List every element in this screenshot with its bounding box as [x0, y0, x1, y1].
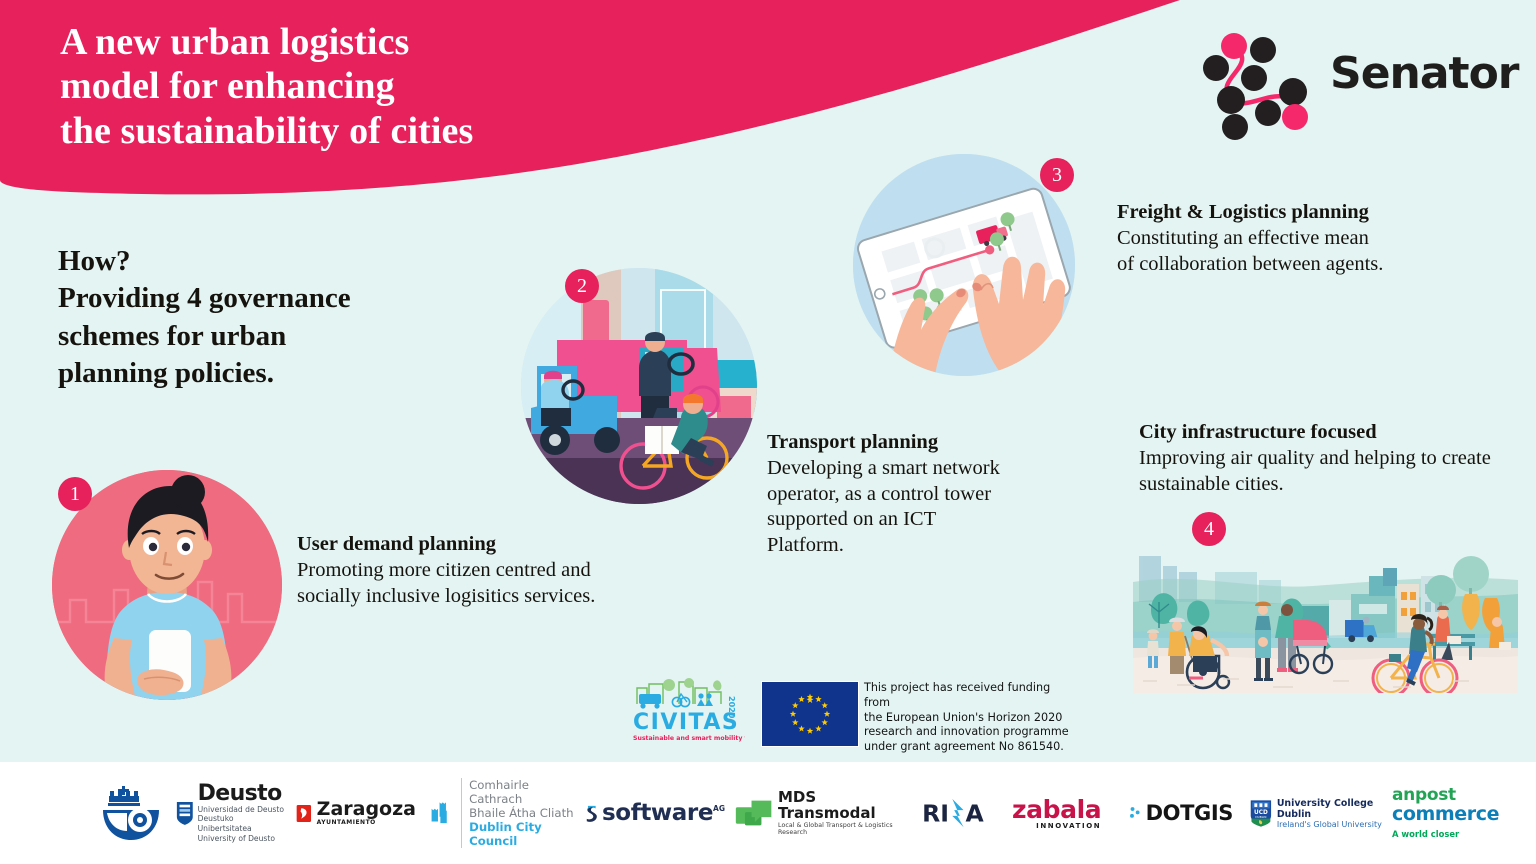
partner-logo-zabala: zabala INNOVATION — [1012, 762, 1117, 864]
svg-text:DUBLIN: DUBLIN — [1255, 814, 1266, 818]
item-3-text: Freight & Logistics planning Constitutin… — [1117, 200, 1387, 277]
page-title-line-3: the sustainability of cities — [60, 109, 473, 153]
item-1-text: User demand planning Promoting more citi… — [297, 532, 617, 609]
partner-logo-anpost-commerce: anpost commerce A world closer — [1392, 762, 1507, 864]
illustration-city-infrastructure-focused — [1133, 528, 1518, 693]
partner-deusto-sub3: University of Deusto — [198, 834, 288, 844]
illustration-transport-planning — [521, 268, 757, 504]
partner-logo-correos — [95, 762, 175, 864]
how-line-1: How? — [58, 243, 458, 280]
partner-logo-row: Deusto Universidad de Deusto Deustuko Un… — [0, 762, 1536, 864]
partner-logo-dotgis: DOTGIS — [1128, 762, 1233, 864]
page-title: A new urban logistics model for enhancin… — [60, 20, 473, 153]
illustration-freight-logistics-planning — [853, 154, 1075, 376]
item-4-heading: City infrastructure focused — [1139, 420, 1519, 446]
item-2-heading: Transport planning — [767, 430, 1002, 456]
badge-number-1: 1 — [58, 477, 92, 511]
item-1-body: Promoting more citizen centred and socia… — [297, 558, 617, 610]
item-3-heading: Freight & Logistics planning — [1117, 200, 1387, 226]
badge-number-4: 4 — [1192, 512, 1226, 546]
partner-dublin-sub3: Dublin City Council — [469, 820, 582, 848]
partner-logo-mds-transmodal: MDS Transmodal Local & Global Transport … — [735, 762, 910, 864]
funding-line-4: under grant agreement No 861540. — [864, 740, 1079, 755]
item-4-body: Improving air quality and helping to cre… — [1139, 446, 1519, 498]
partner-mds-name: MDS Transmodal — [778, 790, 910, 822]
funding-line-1: This project has received funding from — [864, 681, 1079, 711]
partner-mds-sub1: Local & Global Transport & Logistics Res… — [778, 822, 910, 836]
page-title-line-2: model for enhancing — [60, 64, 473, 108]
partner-ucd-sub1: Ireland's Global University — [1277, 820, 1385, 829]
funding-line-3: research and innovation programme — [864, 725, 1079, 740]
partner-dotgis-name: DOTGIS — [1146, 801, 1233, 825]
civitas-logo: 2020 CIVITAS Sustainable and smart mobil… — [633, 674, 745, 746]
partner-deusto-name: Deusto — [198, 783, 288, 805]
partner-dublin-sub2: Bhaile Átha Cliath — [469, 806, 582, 820]
partner-logo-software-ag: software AG — [585, 762, 725, 864]
infographic-canvas: A new urban logistics model for enhancin… — [0, 0, 1536, 864]
item-2-body: Developing a smart network operator, as … — [767, 456, 1002, 559]
item-1-heading: User demand planning — [297, 532, 617, 558]
badge-number-2: 2 — [565, 269, 599, 303]
partner-software-name: software — [602, 802, 713, 825]
partner-logo-ucd: UCD DUBLIN University College Dublin Ire… — [1250, 762, 1385, 864]
partner-logo-rina: RI A — [922, 762, 997, 864]
how-line-2: Providing 4 governance — [58, 280, 458, 317]
senator-logo-wordmark: Senator — [1330, 48, 1519, 99]
civitas-wordmark: CIVITAS — [633, 710, 739, 735]
partner-software-sub1: AG — [713, 804, 725, 813]
partner-logo-zaragoza: Zaragoza AYUNTAMIENTO — [296, 762, 416, 864]
partner-zaragoza-name: Zaragoza — [317, 800, 416, 819]
partner-logo-dublin-city-council: Comhairle Cathrach Bhaile Átha Cliath Du… — [430, 762, 582, 864]
badge-number-3: 3 — [1040, 158, 1074, 192]
funding-statement: This project has received funding from t… — [864, 681, 1079, 755]
page-title-line-1: A new urban logistics — [60, 20, 473, 64]
svg-text:RI: RI — [922, 799, 949, 827]
how-block: How? Providing 4 governance schemes for … — [58, 243, 458, 393]
funding-line-2: the European Union's Horizon 2020 — [864, 711, 1079, 726]
partner-deusto-sub1: Universidad de Deusto — [198, 805, 288, 815]
how-line-3: schemes for urban — [58, 318, 458, 355]
partner-zaragoza-sub1: AYUNTAMIENTO — [317, 819, 416, 826]
partner-dublin-sub1: Comhairle Cathrach — [469, 778, 582, 806]
partner-anpost-sub1: commerce — [1392, 805, 1499, 825]
partner-anpost-sub2: A world closer — [1392, 829, 1499, 839]
european-union-flag — [761, 681, 859, 747]
svg-text:A: A — [965, 799, 984, 827]
how-line-4: planning policies. — [58, 355, 458, 392]
item-4-text: City infrastructure focused Improving ai… — [1139, 420, 1519, 497]
partner-ucd-name: University College Dublin — [1277, 798, 1385, 820]
partner-zabala-name: zabala — [1012, 797, 1101, 822]
partner-logo-deusto: Deusto Universidad de Deusto Deustuko Un… — [176, 762, 288, 864]
partner-deusto-sub2: Deustuko Unibertsitatea — [198, 814, 288, 833]
item-2-text: Transport planning Developing a smart ne… — [767, 430, 1002, 559]
item-3-body: Constituting an effective mean of collab… — [1117, 226, 1387, 278]
civitas-tagline: Sustainable and smart mobility for all — [633, 735, 745, 742]
